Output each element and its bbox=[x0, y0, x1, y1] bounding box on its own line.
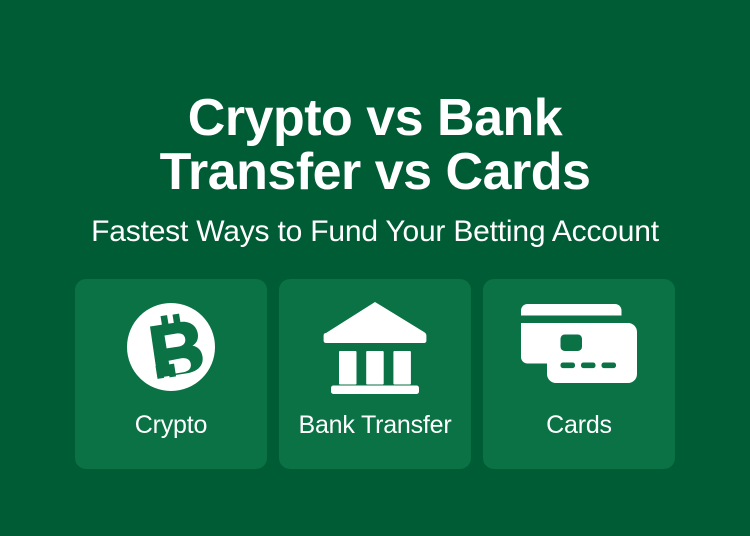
headline-line-1: Crypto vs Bank bbox=[55, 92, 695, 146]
subheadline: Fastest Ways to Fund Your Betting Accoun… bbox=[91, 215, 659, 248]
headline-line-2: Transfer vs Cards bbox=[55, 146, 695, 200]
payment-methods-row: Crypto Bank Transfer bbox=[75, 279, 675, 469]
crypto-icon-zone bbox=[75, 291, 267, 403]
promo-poster: Crypto vs Bank Transfer vs Cards Fastest… bbox=[0, 0, 750, 536]
headline: Crypto vs Bank Transfer vs Cards bbox=[55, 92, 695, 199]
bank-icon-zone bbox=[279, 291, 471, 403]
method-card-bank-transfer[interactable]: Bank Transfer bbox=[279, 279, 471, 469]
method-label-cards: Cards bbox=[546, 413, 612, 438]
bitcoin-icon bbox=[126, 302, 216, 392]
credit-cards-icon bbox=[521, 300, 637, 394]
bank-icon bbox=[323, 300, 427, 394]
method-card-crypto[interactable]: Crypto bbox=[75, 279, 267, 469]
method-card-cards[interactable]: Cards bbox=[483, 279, 675, 469]
method-label-crypto: Crypto bbox=[135, 413, 207, 438]
cards-icon-zone bbox=[483, 291, 675, 403]
page-title: Crypto vs Bank Transfer vs Cards bbox=[55, 92, 695, 199]
method-label-bank-transfer: Bank Transfer bbox=[298, 413, 451, 438]
